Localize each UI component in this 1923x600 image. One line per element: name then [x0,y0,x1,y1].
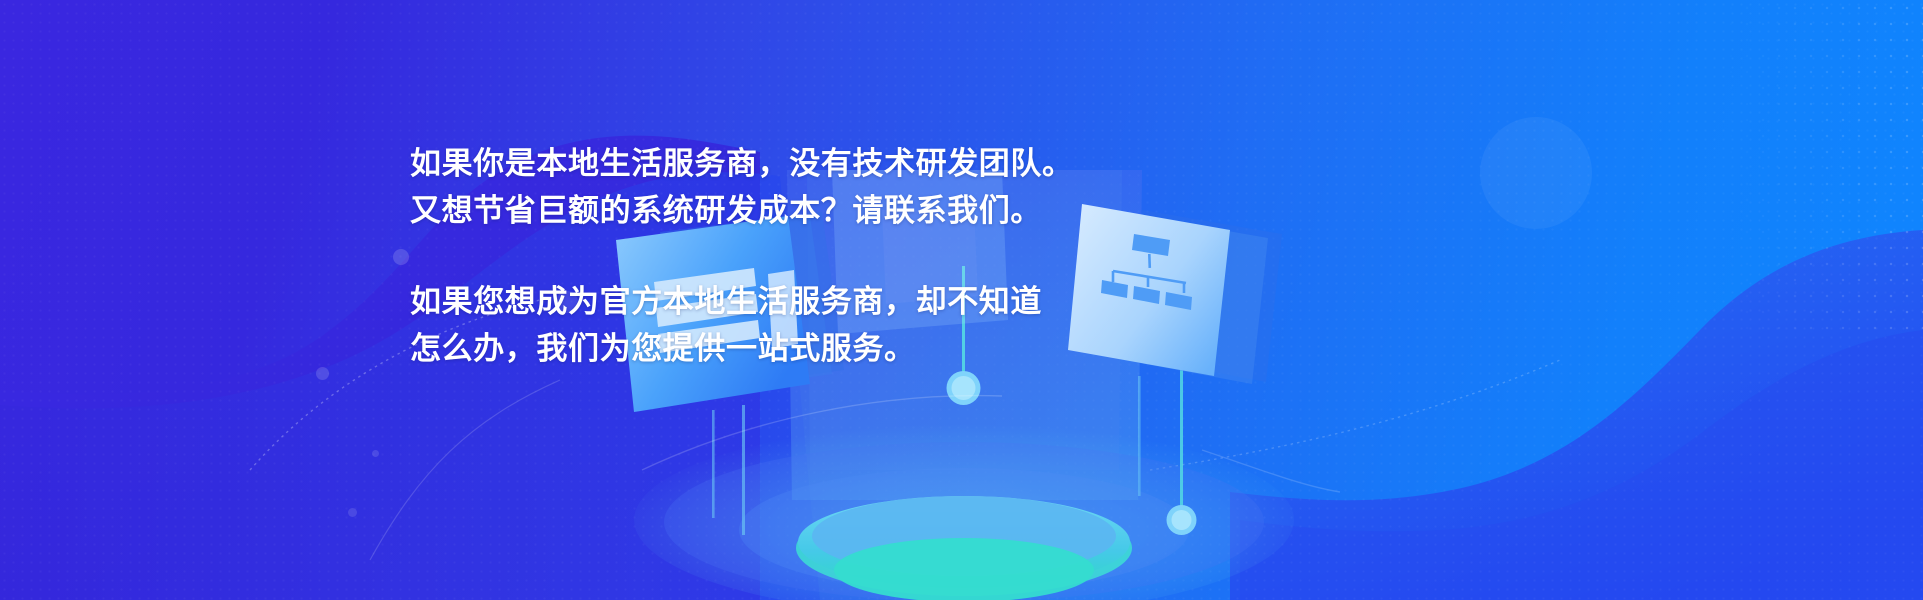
promo-hero-banner: 如果你是本地生活服务商，没有技术研发团队。 又想节省巨额的系统研发成本？请联系我… [0,0,1923,600]
paragraph-two-line-1: 如果您想成为官方本地生活服务商，却不知道 [410,278,1170,325]
paragraph-two: 如果您想成为官方本地生活服务商，却不知道 怎么办，我们为您提供一站式服务。 [410,278,1170,372]
paragraph-one-line-1: 如果你是本地生活服务商，没有技术研发团队。 [410,140,1170,187]
hero-copy: 如果你是本地生活服务商，没有技术研发团队。 又想节省巨额的系统研发成本？请联系我… [410,140,1170,372]
paragraph-two-line-2: 怎么办，我们为您提供一站式服务。 [410,325,1170,372]
paragraph-one-line-2: 又想节省巨额的系统研发成本？请联系我们。 [410,187,1170,234]
paragraph-one: 如果你是本地生活服务商，没有技术研发团队。 又想节省巨额的系统研发成本？请联系我… [410,140,1170,234]
